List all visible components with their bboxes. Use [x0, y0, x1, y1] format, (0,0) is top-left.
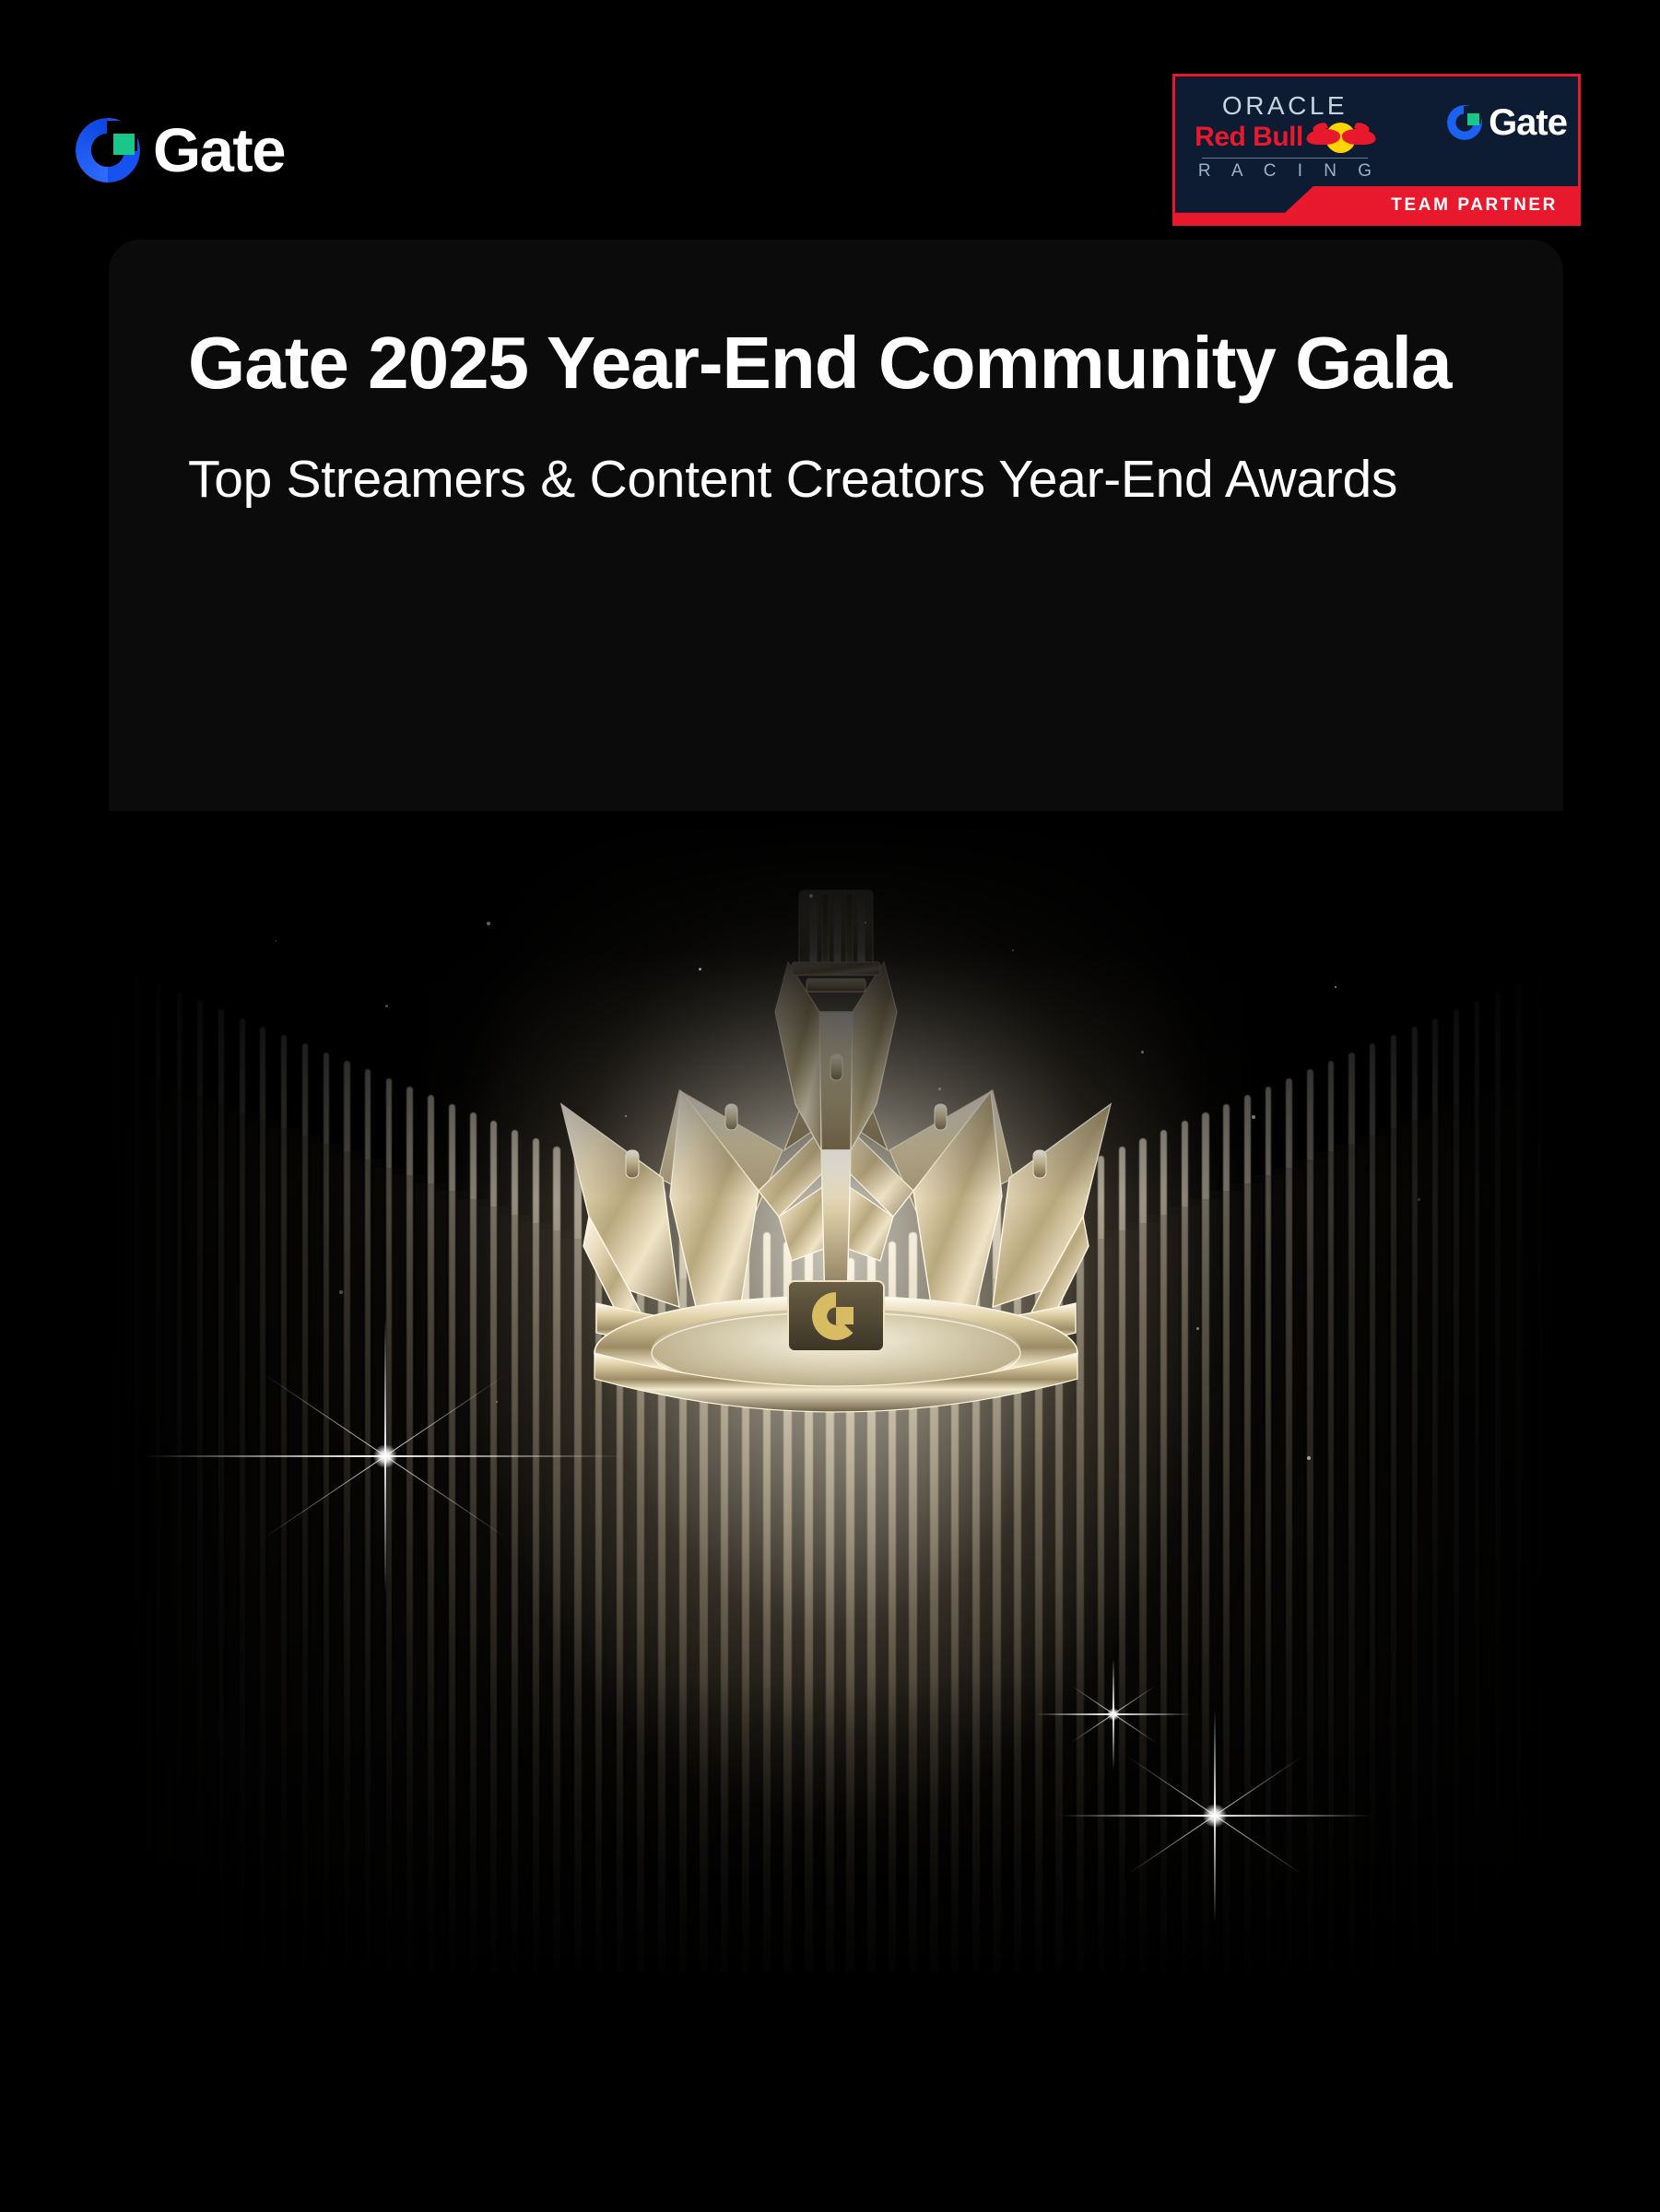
gate-logo-icon — [76, 118, 140, 182]
red-bull-icon — [1307, 122, 1375, 153]
page-bottom-fade — [0, 1972, 1660, 2212]
red-bull-label: Red Bull — [1195, 124, 1303, 151]
team-partner-label: TEAM PARTNER — [1391, 196, 1558, 214]
gate-brand-logo[interactable]: Gate — [76, 118, 285, 182]
hero-scene — [109, 811, 1563, 2157]
divider — [1202, 158, 1368, 159]
oracle-red-bull-racing-partner-badge[interactable]: ORACLE Red Bull R A C I N G Gate TEAM PA… — [1172, 74, 1581, 226]
page-title: Gate 2025 Year-End Community Gala — [188, 317, 1484, 410]
racing-label: R A C I N G — [1190, 162, 1380, 180]
gate-logo-icon — [1447, 105, 1482, 140]
gate-wordmark: Gate — [153, 120, 285, 182]
red-bull-racing-lockup: ORACLE Red Bull R A C I N G — [1175, 76, 1395, 192]
team-partner-banner: TEAM PARTNER — [1274, 186, 1578, 223]
top-bar: Gate ORACLE Red Bull R A C I N G Gate — [0, 0, 1660, 241]
card-header: Gate 2025 Year-End Community Gala Top St… — [109, 240, 1563, 513]
page-subtitle: Top Streamers & Content Creators Year-En… — [188, 447, 1484, 513]
oracle-label: ORACLE — [1222, 93, 1348, 119]
badge-gate-wordmark: Gate — [1489, 104, 1567, 141]
event-card: Gate 2025 Year-End Community Gala Top St… — [109, 240, 1563, 2157]
badge-gate-logo: Gate — [1447, 104, 1567, 141]
